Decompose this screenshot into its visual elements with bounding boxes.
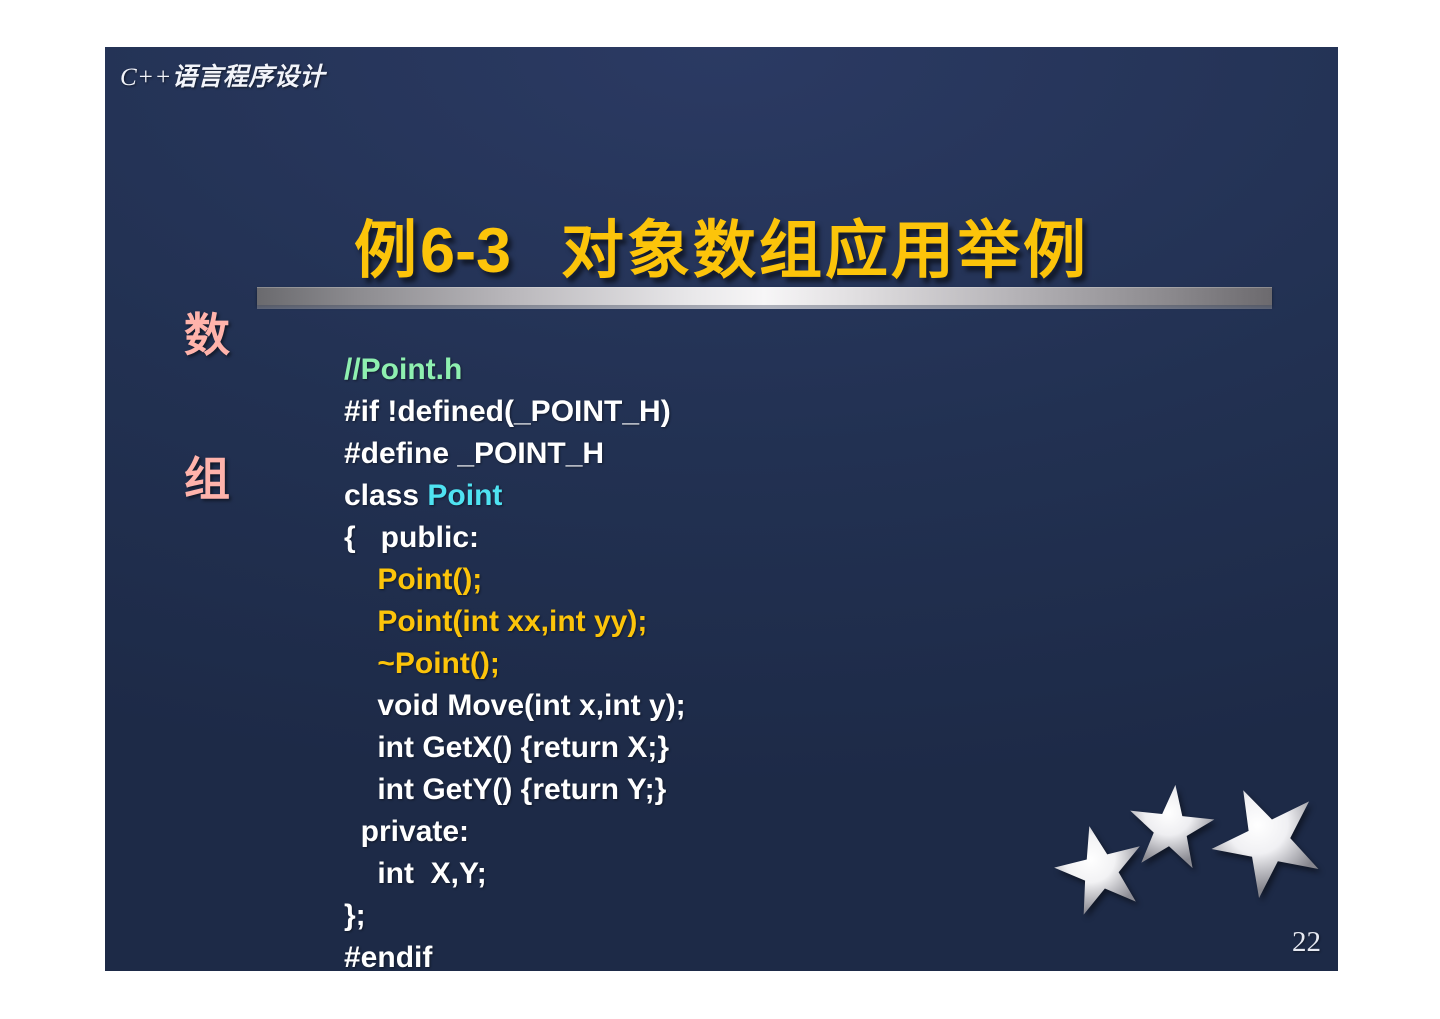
course-header: C++语言程序设计 — [120, 57, 325, 93]
presentation-slide: C++语言程序设计 例6-3 对象数组应用举例 数 组 //Point.h#if… — [105, 47, 1338, 971]
page-number: 22 — [1292, 926, 1321, 959]
code-line: int GetY() {return Y;} — [344, 769, 686, 811]
star-icon — [1125, 781, 1217, 873]
code-token: int GetX() {return X;} — [344, 731, 669, 764]
code-token: void Move(int x,int y); — [344, 689, 686, 722]
code-line: ~Point(); — [344, 643, 686, 685]
code-token: { public: — [344, 521, 479, 554]
code-line: private: — [344, 811, 686, 853]
code-token: Point — [427, 479, 502, 512]
code-token: int X,Y; — [344, 857, 487, 890]
code-token: Point(); — [344, 563, 482, 596]
code-line: void Move(int x,int y); — [344, 685, 686, 727]
code-line: #endif — [344, 937, 686, 971]
course-header-chinese: 语言程序设计 — [172, 64, 325, 91]
code-line: #if !defined(_POINT_H) — [344, 391, 686, 433]
side-label-char-2: 组 — [162, 456, 252, 502]
code-token: Point(int xx,int yy); — [344, 605, 647, 638]
metallic-divider — [257, 287, 1272, 305]
code-line: Point(int xx,int yy); — [344, 601, 686, 643]
code-token: //Point.h — [344, 353, 462, 386]
star-icon — [1208, 780, 1326, 898]
code-line: int X,Y; — [344, 853, 686, 895]
code-token: class — [344, 479, 427, 512]
code-line: { public: — [344, 517, 686, 559]
code-line: #define _POINT_H — [344, 433, 686, 475]
code-token: #endif — [344, 941, 432, 971]
code-token: }; — [344, 899, 366, 932]
code-line: }; — [344, 895, 686, 937]
side-label-shuzu: 数 组 — [162, 312, 252, 502]
code-token: #if !defined(_POINT_H) — [344, 395, 671, 428]
title-text: 对象数组应用举例 — [561, 214, 1089, 287]
side-label-char-1: 数 — [162, 312, 252, 358]
title-prefix: 例 — [354, 214, 420, 287]
code-line: Point(); — [344, 559, 686, 601]
title-number: 6-3 — [420, 216, 511, 286]
code-token: int GetY() {return Y;} — [344, 773, 666, 806]
code-token: ~Point(); — [344, 647, 500, 680]
screenshot-root: C++语言程序设计 例6-3 对象数组应用举例 数 组 //Point.h#if… — [0, 0, 1440, 1019]
page-title: 例6-3 对象数组应用举例 — [105, 219, 1338, 283]
code-block: //Point.h#if !defined(_POINT_H)#define _… — [344, 349, 686, 971]
code-token: private: — [344, 815, 469, 848]
course-header-latin: C++ — [120, 64, 172, 91]
code-line: //Point.h — [344, 349, 686, 391]
code-line: class Point — [344, 475, 686, 517]
code-line: int GetX() {return X;} — [344, 727, 686, 769]
code-token: #define _POINT_H — [344, 437, 604, 470]
